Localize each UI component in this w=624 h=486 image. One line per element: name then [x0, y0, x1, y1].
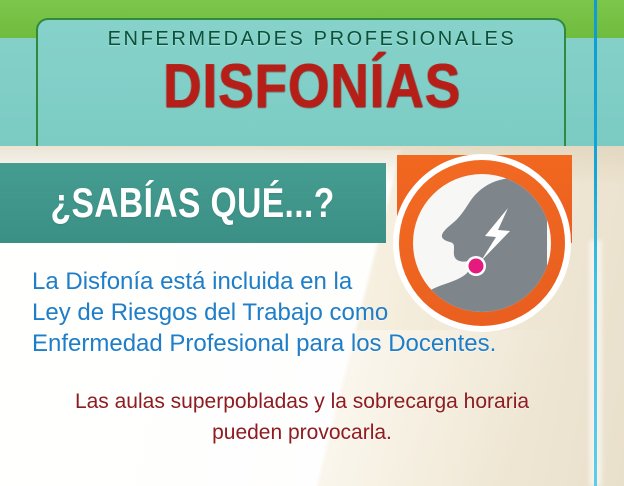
secondary-line-2: pueden provocarla.: [22, 417, 582, 448]
primary-paragraph: La Disfonía está incluida en la Ley de R…: [32, 266, 572, 359]
eyebrow-text: ENFERMEDADES PROFESIONALES: [0, 28, 624, 51]
primary-line-3: Enfermedad Profesional para los Docentes…: [32, 328, 572, 359]
infographic-poster: ENFERMEDADES PROFESIONALES DISFONÍAS ¿SA…: [0, 0, 624, 486]
page-title: DISFONÍAS: [44, 56, 581, 118]
vertical-blue-rule: [594, 0, 597, 486]
primary-line-1: La Disfonía está incluida en la: [32, 266, 572, 297]
secondary-line-1: Las aulas superpobladas y la sobrecarga …: [22, 386, 582, 417]
secondary-paragraph: Las aulas superpobladas y la sobrecarga …: [22, 386, 582, 448]
primary-line-2: Ley de Riesgos del Trabajo como: [32, 297, 572, 328]
did-you-know-label: ¿SABÍAS QUÉ...?: [51, 182, 335, 224]
did-you-know-banner: ¿SABÍAS QUÉ...?: [0, 163, 386, 243]
